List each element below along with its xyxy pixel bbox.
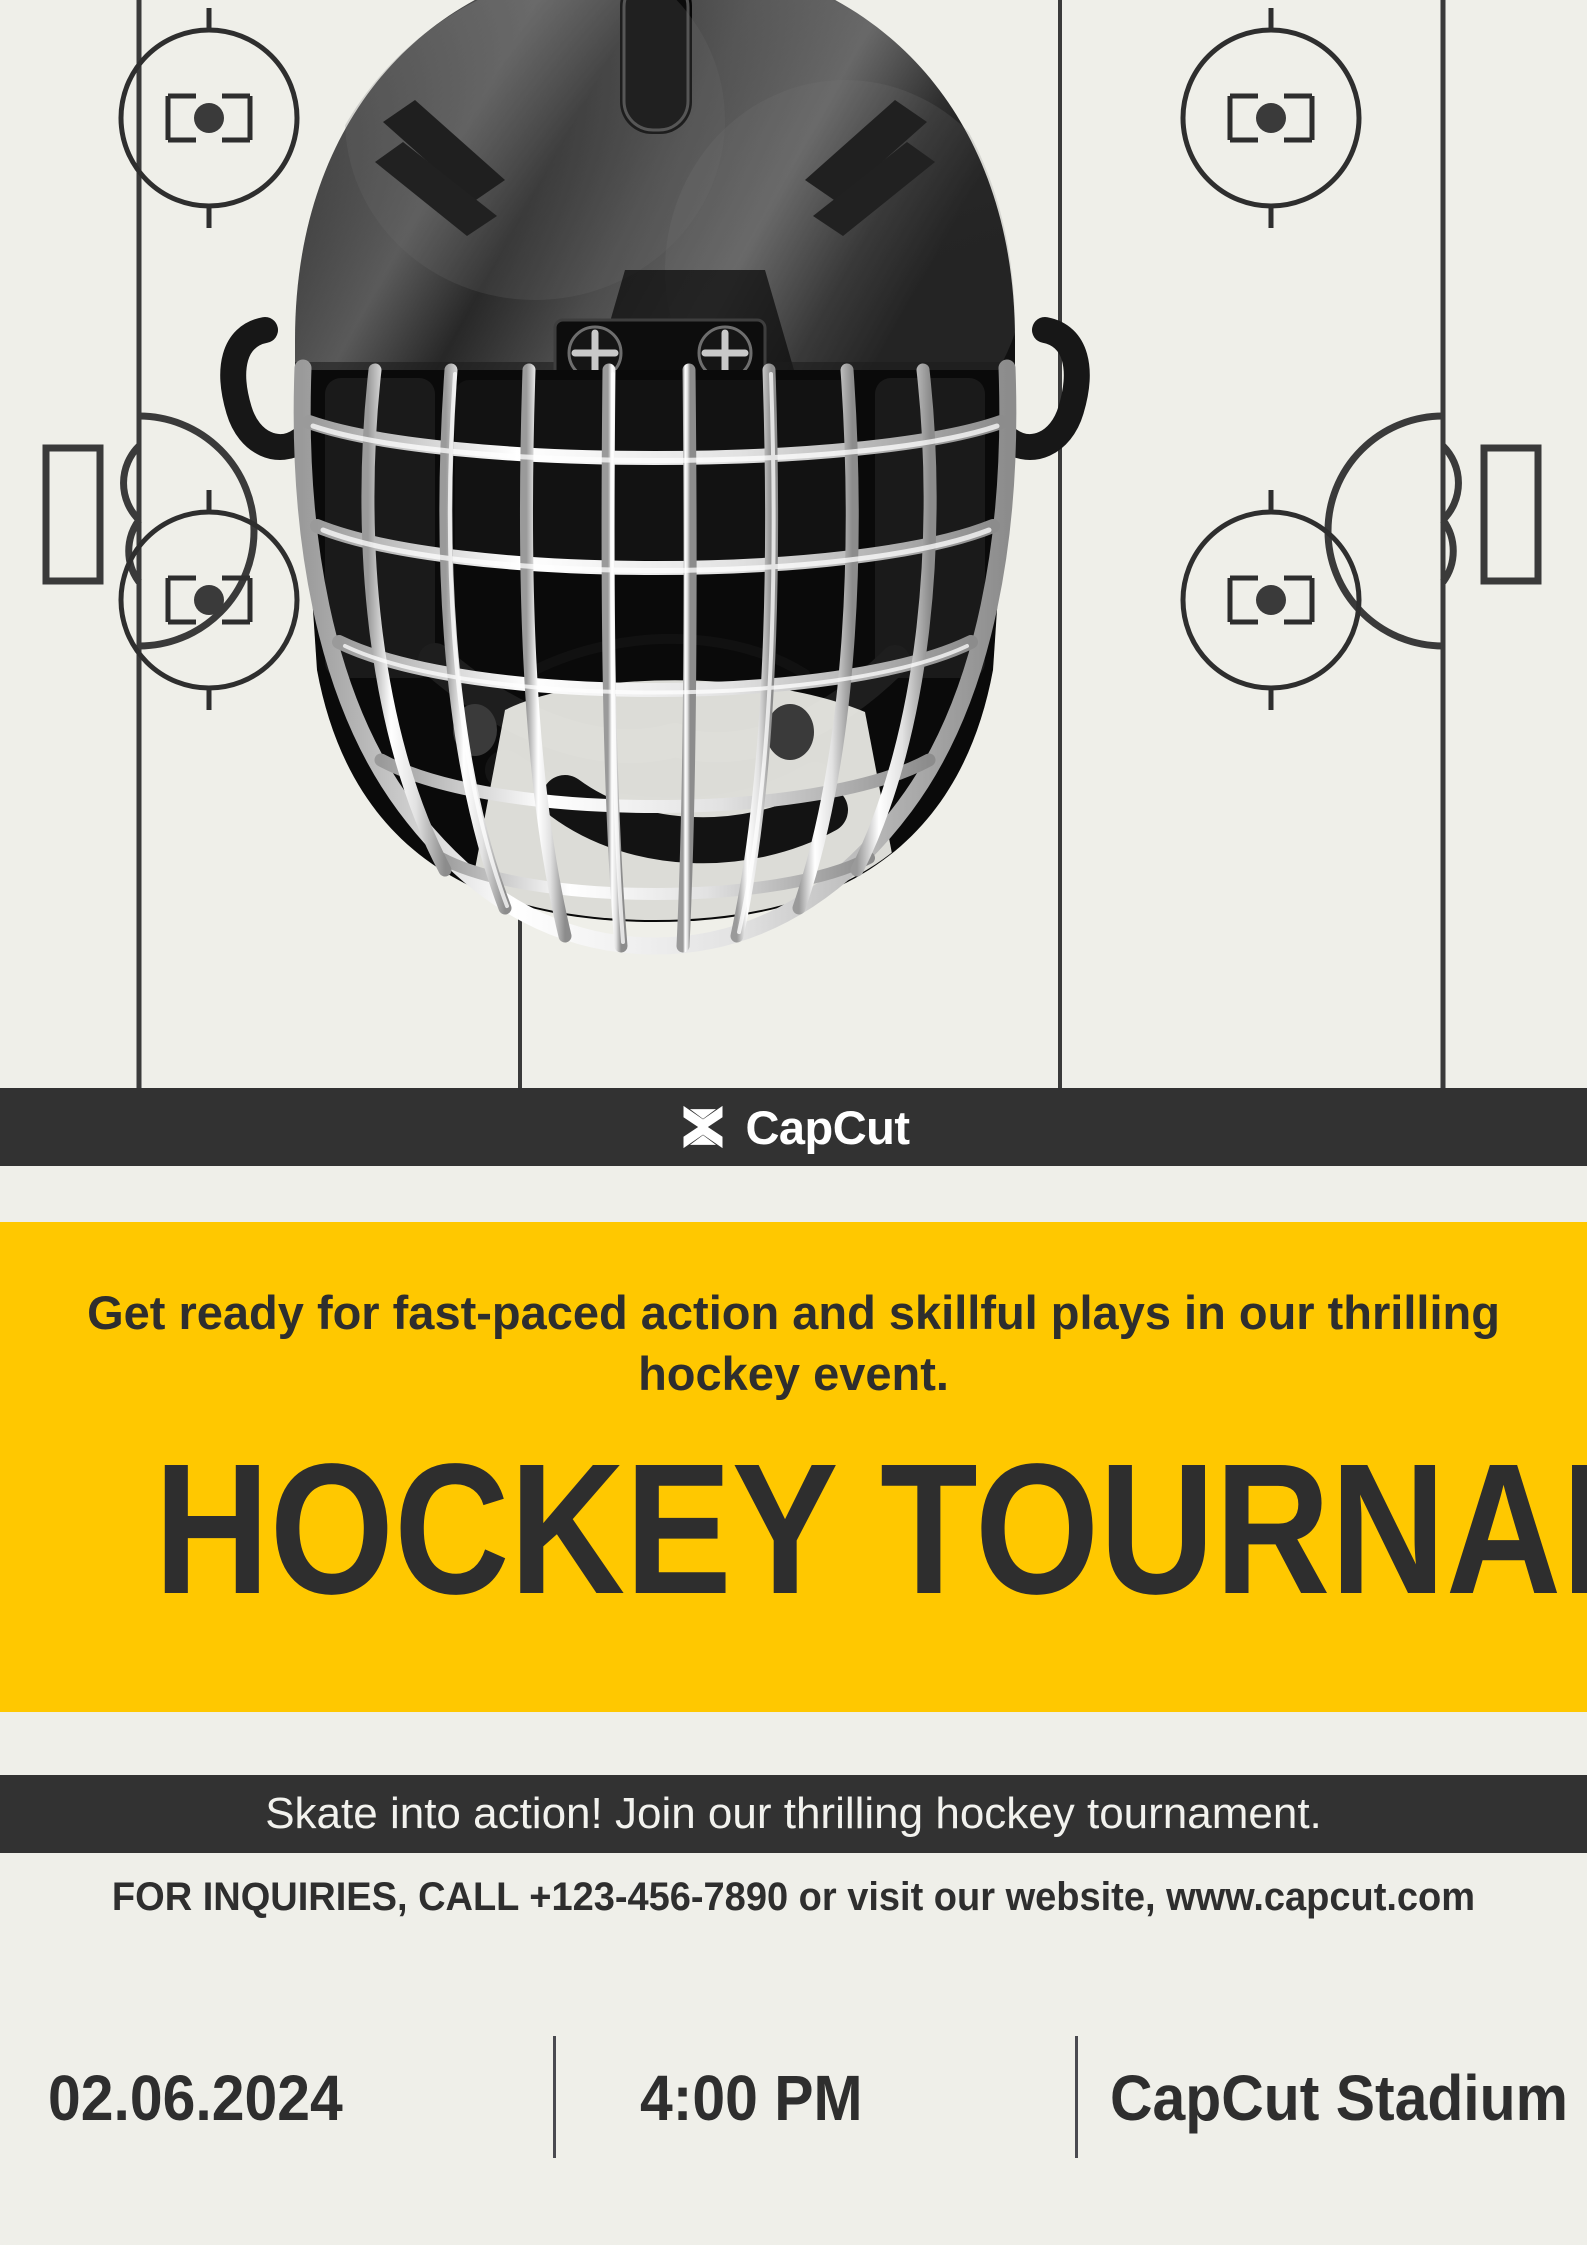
event-date: 02.06.2024: [48, 2018, 343, 2178]
hockey-helmet-image: [205, 0, 1105, 1088]
promo-block: Get ready for fast-paced action and skil…: [0, 1222, 1587, 1712]
capcut-wordmark: CapCut: [745, 1104, 909, 1151]
detail-divider-1: [553, 2036, 556, 2158]
event-venue: CapCut Stadium: [1110, 2018, 1568, 2178]
helmet-illustration: [205, 0, 1105, 1088]
promo-tagline: Get ready for fast-paced action and skil…: [60, 1282, 1527, 1404]
hockey-tournament-poster: CapCut Get ready for fast-paced action a…: [0, 0, 1587, 2245]
promo-headline: HOCKEY TOURNAMENT: [154, 1444, 1433, 1615]
detail-divider-2: [1075, 2036, 1078, 2158]
capcut-brand-bar: CapCut: [0, 1088, 1587, 1166]
event-time: 4:00 PM: [640, 2018, 863, 2178]
event-details-row: 02.06.2024 4:00 PM CapCut Stadium: [0, 2018, 1587, 2178]
cta-strip: Skate into action! Join our thrilling ho…: [0, 1775, 1587, 1853]
capcut-logo-icon: [677, 1101, 729, 1153]
contact-line: FOR INQUIRIES, CALL +123-456-7890 or vis…: [40, 1875, 1548, 1919]
cta-strip-text: Skate into action! Join our thrilling ho…: [265, 1792, 1322, 1836]
hero-photo-area: [0, 0, 1587, 1088]
